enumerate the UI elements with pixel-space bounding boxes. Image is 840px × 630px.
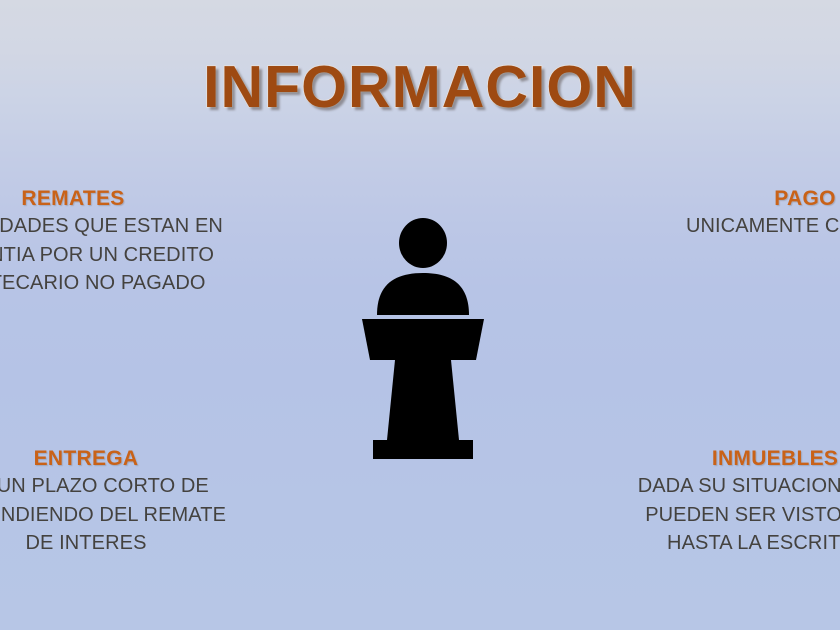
block-heading-remates: REMATES xyxy=(0,186,233,212)
block-line: UNICAMENTE CONTADO xyxy=(645,212,840,240)
block-line: DE UN PLAZO CORTO DE xyxy=(0,472,251,500)
block-line: DEPENDIENDO DEL REMATE xyxy=(0,501,251,529)
slide-canvas: INFORMACION REMATES PROPIEDADES QUE ESTA… xyxy=(0,0,840,630)
block-heading-inmuebles: INMUEBLES xyxy=(610,446,840,472)
text-block-remates: REMATES PROPIEDADES QUE ESTAN EN GARANTI… xyxy=(0,186,233,297)
block-line: HIPOTECARIO NO PAGADO xyxy=(0,269,233,297)
text-block-entrega: ENTREGA DE UN PLAZO CORTO DE DEPENDIENDO… xyxy=(0,446,251,557)
podium-speaker-icon xyxy=(348,218,498,468)
text-block-pago: PAGO UNICAMENTE CONTADO xyxy=(645,186,840,241)
text-block-inmuebles: INMUEBLES DADA SU SITUACION LEGAL PUEDEN… xyxy=(610,446,840,557)
block-line: DE INTERES xyxy=(0,529,251,557)
page-title: INFORMACION xyxy=(0,58,840,117)
block-line: PUEDEN SER VISTOS POR xyxy=(610,501,840,529)
block-heading-pago: PAGO xyxy=(645,186,840,212)
block-line: HASTA LA ESCRITURA xyxy=(610,529,840,557)
block-line: DADA SU SITUACION LEGAL xyxy=(610,472,840,500)
block-line: PROPIEDADES QUE ESTAN EN xyxy=(0,212,233,240)
block-line: GARANTIA POR UN CREDITO xyxy=(0,241,233,269)
block-heading-entrega: ENTREGA xyxy=(0,446,251,472)
